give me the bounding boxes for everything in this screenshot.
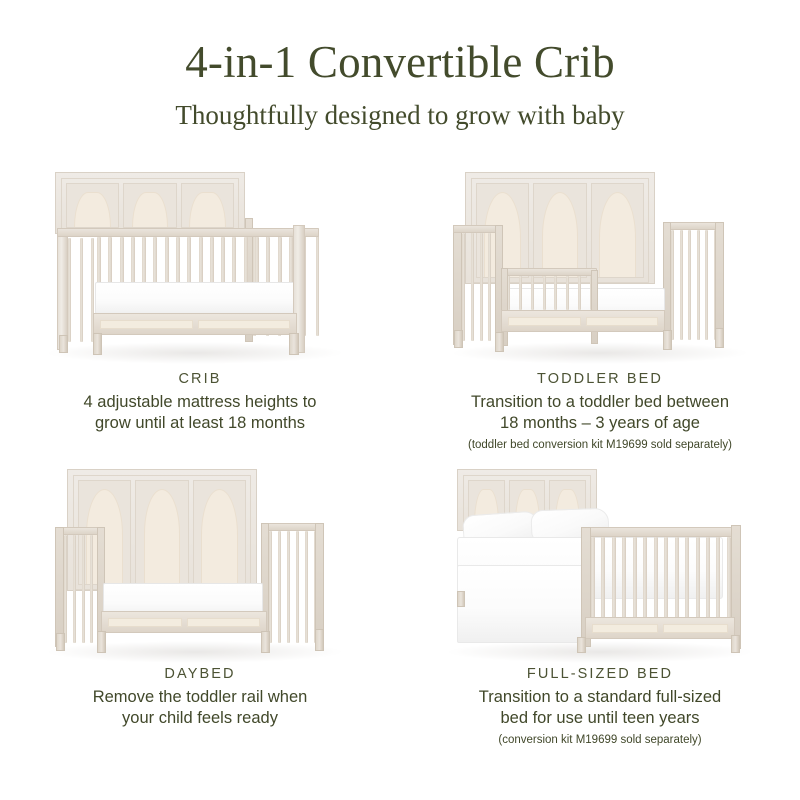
leg-right-front bbox=[261, 631, 270, 653]
mode-note: (conversion kit M19699 sold separately) bbox=[435, 732, 765, 748]
caption-daybed: DAYBED Remove the toddler rail when your… bbox=[35, 665, 365, 729]
base-panel bbox=[663, 624, 729, 633]
headboard-inner-frame bbox=[61, 178, 239, 233]
base-panel bbox=[108, 618, 182, 627]
leg-left-back bbox=[56, 633, 65, 651]
arch-slot bbox=[135, 480, 188, 585]
full-sized-bed-illustration bbox=[435, 465, 765, 661]
mode-description: Transition to a standard full-sized bed … bbox=[435, 687, 765, 729]
leg-head-left bbox=[457, 591, 465, 607]
mode-note: (toddler bed conversion kit M19699 sold … bbox=[435, 437, 765, 453]
leg-front-left bbox=[59, 335, 68, 353]
mode-description: 4 adjustable mattress heights to grow un… bbox=[35, 392, 365, 434]
left-side-post bbox=[55, 527, 64, 647]
mode-title: FULL-SIZED BED bbox=[435, 665, 765, 684]
base-panel bbox=[100, 320, 193, 329]
left-side-post bbox=[453, 225, 462, 345]
headboard-arch-panel bbox=[55, 172, 245, 234]
floor-shadow bbox=[45, 641, 345, 663]
right-side-slats bbox=[269, 531, 317, 643]
mode-title: DAYBED bbox=[35, 665, 365, 684]
base-panel bbox=[508, 317, 581, 326]
arch-slot bbox=[591, 183, 644, 278]
caption-crib: CRIB 4 adjustable mattress heights to gr… bbox=[35, 370, 365, 434]
left-side-slats bbox=[68, 238, 94, 342]
arch-shape bbox=[542, 192, 579, 277]
page-subtitle: Thoughtfully designed to grow with baby bbox=[0, 98, 800, 132]
arch-shape bbox=[201, 489, 238, 584]
caption-toddler-bed: TODDLER BED Transition to a toddler bed … bbox=[435, 370, 765, 453]
base-rail bbox=[501, 310, 665, 332]
mode-cell-crib: CRIB 4 adjustable mattress heights to gr… bbox=[0, 170, 400, 465]
crib-illustration bbox=[35, 170, 365, 366]
front-top-rail bbox=[57, 228, 319, 237]
base-panel bbox=[592, 624, 658, 633]
toddler-bed-illustration bbox=[435, 170, 765, 366]
page-header: 4-in-1 Convertible Crib Thoughtfully des… bbox=[0, 34, 800, 132]
footboard-top-rail bbox=[663, 222, 721, 230]
footboard-top-rail bbox=[581, 527, 741, 537]
mode-cell-toddler-bed: TODDLER BED Transition to a toddler bed … bbox=[400, 170, 800, 465]
leg-left bbox=[93, 333, 102, 355]
mode-title: TODDLER BED bbox=[435, 370, 765, 389]
leg-foot-front bbox=[577, 637, 586, 653]
daybed-illustration bbox=[35, 465, 365, 661]
toddler-rail-top bbox=[501, 268, 597, 276]
mode-cell-full-sized-bed: FULL-SIZED BED Transition to a standard … bbox=[400, 465, 800, 760]
arch-slot bbox=[181, 183, 234, 228]
mode-cell-daybed: DAYBED Remove the toddler rail when your… bbox=[0, 465, 400, 760]
mattress-side bbox=[457, 565, 583, 643]
leg-right bbox=[289, 333, 299, 355]
footboard-slats bbox=[671, 230, 717, 340]
leg-right-back bbox=[315, 629, 324, 651]
mode-description: Transition to a toddler bed between 18 m… bbox=[435, 392, 765, 434]
floor-shadow bbox=[445, 641, 755, 663]
footboard-slats bbox=[591, 537, 731, 623]
mattress bbox=[95, 282, 295, 314]
arch-slot bbox=[66, 183, 119, 228]
conversion-modes-grid: CRIB 4 adjustable mattress heights to gr… bbox=[0, 170, 800, 760]
mode-description: Remove the toddler rail when your child … bbox=[35, 687, 365, 729]
leg-right-front bbox=[663, 330, 672, 350]
footboard-base-rail bbox=[585, 617, 735, 639]
leg-left-front bbox=[495, 332, 504, 352]
arch-slot bbox=[533, 183, 586, 278]
arch-shape bbox=[599, 192, 636, 277]
leg-left-front bbox=[97, 631, 106, 653]
base-panel bbox=[586, 317, 659, 326]
left-side-top-rail bbox=[453, 225, 501, 233]
toddler-rail-slats bbox=[507, 276, 593, 310]
page-title: 4-in-1 Convertible Crib bbox=[0, 34, 800, 90]
left-corner-post bbox=[57, 228, 68, 350]
arch-slot bbox=[123, 183, 176, 228]
base-panel bbox=[198, 320, 291, 329]
leg-left-back bbox=[454, 330, 463, 348]
leg-foot-back bbox=[731, 635, 740, 653]
toddler-rail-post-right bbox=[591, 270, 598, 344]
mode-title: CRIB bbox=[35, 370, 365, 389]
right-side-top-rail bbox=[261, 523, 321, 531]
leg-right-back bbox=[715, 328, 724, 348]
base-rail bbox=[101, 611, 267, 633]
arch-slot bbox=[193, 480, 246, 585]
base-rail bbox=[93, 313, 297, 335]
product-infographic-page: 4-in-1 Convertible Crib Thoughtfully des… bbox=[0, 0, 800, 800]
arch-shape bbox=[132, 192, 169, 227]
arch-shape bbox=[189, 192, 226, 227]
arch-shape bbox=[74, 192, 111, 227]
base-panel bbox=[187, 618, 261, 627]
caption-full-sized-bed: FULL-SIZED BED Transition to a standard … bbox=[435, 665, 765, 748]
arch-shape bbox=[144, 489, 181, 584]
